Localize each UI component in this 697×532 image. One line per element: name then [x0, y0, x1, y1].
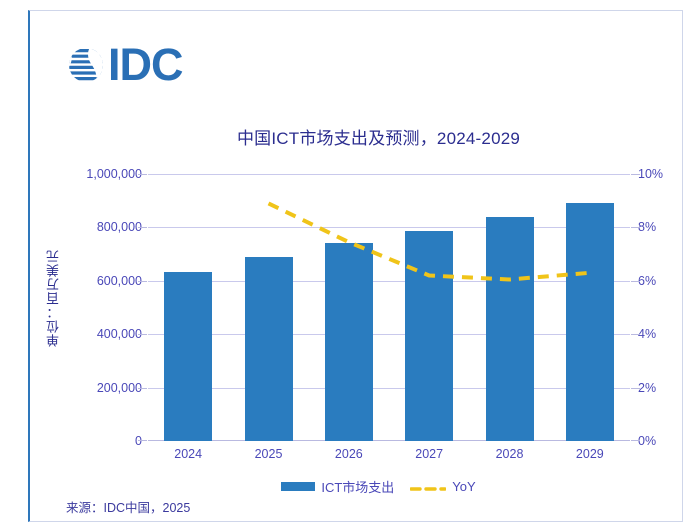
- y-tick-label: 0: [56, 434, 142, 448]
- bar-2027: [405, 231, 453, 441]
- plot-area: [148, 174, 630, 441]
- x-tick-label: 2028: [470, 447, 550, 461]
- y-tick-label: 200,000: [56, 381, 142, 395]
- gridline: [148, 388, 630, 389]
- x-tick-label: 2026: [309, 447, 389, 461]
- source-note: 来源：IDC中国，2025: [66, 497, 190, 516]
- chart-legend: ICT市场支出 YoY: [30, 477, 697, 496]
- yoy-line-series: [148, 174, 630, 441]
- chart-card: IDC 中国ICT市场支出及预测，2024-2029 单位：百万美元 1,000…: [28, 10, 683, 522]
- gridline: [148, 174, 630, 175]
- bar-2026: [325, 243, 373, 441]
- y2-tick-label: 0%: [638, 434, 656, 448]
- x-tick-label: 2025: [229, 447, 309, 461]
- gridline: [148, 227, 630, 228]
- x-axis-line: [148, 440, 630, 441]
- y-tick-label: 600,000: [56, 274, 142, 288]
- legend-item-line[interactable]: YoY: [410, 479, 475, 494]
- legend-line-label: YoY: [452, 479, 475, 494]
- chart-screenshot: IDC 中国ICT市场支出及预测，2024-2029 单位：百万美元 1,000…: [0, 0, 697, 532]
- gridline: [148, 281, 630, 282]
- idc-logo-text: IDC: [108, 45, 183, 85]
- x-axis-labels: 202420252026202720282029: [148, 447, 630, 467]
- y2-tick-label: 4%: [638, 327, 656, 341]
- y-tick-label: 1,000,000: [56, 167, 142, 181]
- legend-item-bar[interactable]: ICT市场支出: [281, 477, 394, 496]
- y2-tick-label: 2%: [638, 381, 656, 395]
- y2-tick-label: 8%: [638, 220, 656, 234]
- x-tick-label: 2027: [389, 447, 469, 461]
- legend-bar-label: ICT市场支出: [321, 477, 394, 496]
- y-tick-label: 800,000: [56, 220, 142, 234]
- bar-2025: [245, 257, 293, 441]
- y2-tick-label: 10%: [638, 167, 663, 181]
- idc-logo: IDC: [66, 42, 183, 88]
- page-title: 中国ICT市场支出及预测，2024-2029: [30, 124, 697, 149]
- bar-2029: [566, 203, 614, 441]
- idc-globe-icon: [66, 45, 106, 85]
- y-axis-right-labels: 10% 8% 6% 4% 2% 0%: [638, 174, 697, 441]
- x-tick-label: 2029: [550, 447, 630, 461]
- y-axis-left-labels: 1,000,000 800,000 600,000 400,000 200,00…: [48, 174, 142, 441]
- legend-line-swatch: [410, 482, 446, 492]
- y-tick-label: 400,000: [56, 327, 142, 341]
- legend-bar-swatch: [281, 482, 315, 491]
- y2-tick-label: 6%: [638, 274, 656, 288]
- gridline: [148, 334, 630, 335]
- bar-2024: [164, 272, 212, 441]
- bar-2028: [486, 217, 534, 441]
- x-tick-label: 2024: [148, 447, 228, 461]
